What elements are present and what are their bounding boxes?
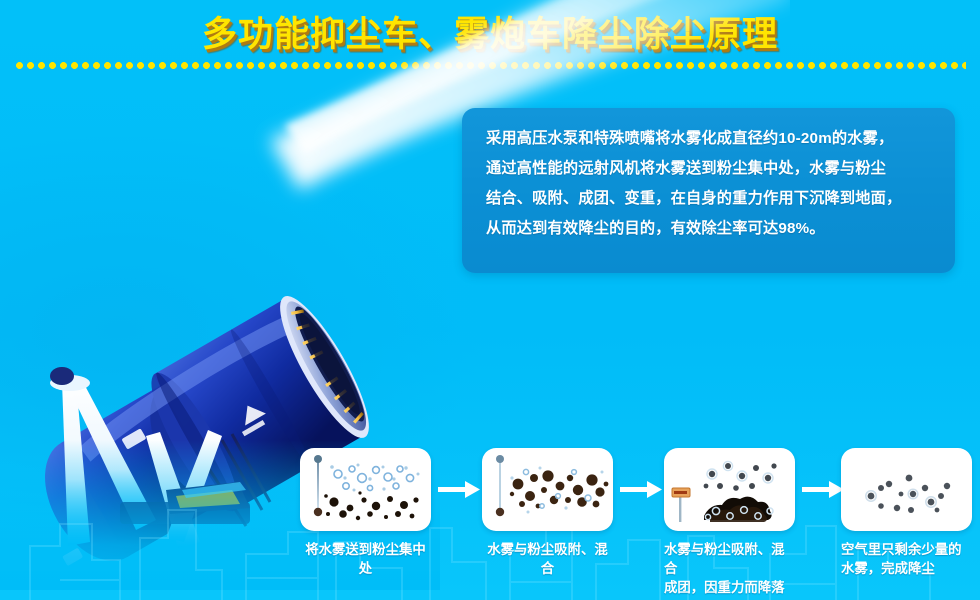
step-3-caption: 水雾与粉尘吸附、混合 成团，因重力而降落 bbox=[664, 540, 795, 597]
info-panel: 采用高压水泵和特殊喷嘴将水雾化成直径约10-20m的水雾， 通过高性能的远射风机… bbox=[462, 108, 955, 273]
mist-dust-mixing-icon bbox=[482, 448, 613, 531]
page-title: 多功能抑尘车、雾炮车降尘除尘原理 bbox=[0, 6, 980, 57]
step-4-diagram-card bbox=[841, 448, 972, 531]
poster-canvas: 多功能抑尘车、雾炮车降尘除尘原理 bbox=[0, 0, 980, 600]
dotted-divider bbox=[14, 62, 966, 69]
arrow-1-icon bbox=[438, 480, 480, 499]
dust-clumps-falling-icon bbox=[664, 448, 795, 531]
step-3-diagram-card bbox=[664, 448, 795, 531]
step-1-caption: 将水雾送到粉尘集中处 bbox=[300, 540, 431, 578]
arrow-3-icon bbox=[802, 480, 844, 499]
info-line-1: 采用高压水泵和特殊喷嘴将水雾化成直径约10-20m的水雾， bbox=[486, 124, 933, 154]
step-2-caption: 水雾与粉尘吸附、混合 bbox=[482, 540, 613, 578]
info-line-4: 从而达到有效降尘的目的，有效除尘率可达98%。 bbox=[486, 214, 933, 244]
mist-and-dust-separate-icon bbox=[300, 448, 431, 531]
process-flow: 将水雾送到粉尘集中处 bbox=[300, 448, 972, 593]
process-step-4: 空气里只剩余少量的 水雾，完成降尘 bbox=[841, 448, 972, 578]
step-1-diagram-card bbox=[300, 448, 431, 531]
info-line-2: 通过高性能的远射风机将水雾送到粉尘集中处，水雾与粉尘 bbox=[486, 154, 933, 184]
process-step-1: 将水雾送到粉尘集中处 bbox=[300, 448, 431, 578]
arrow-2-icon bbox=[620, 480, 662, 499]
process-step-2: 水雾与粉尘吸附、混合 bbox=[482, 448, 613, 578]
step-2-diagram-card bbox=[482, 448, 613, 531]
clean-air-residual-mist-icon bbox=[841, 448, 972, 531]
info-line-3: 结合、吸附、成团、变重，在自身的重力作用下沉降到地面， bbox=[486, 184, 933, 214]
process-step-3: 水雾与粉尘吸附、混合 成团，因重力而降落 bbox=[664, 448, 795, 597]
step-4-caption: 空气里只剩余少量的 水雾，完成降尘 bbox=[841, 540, 972, 578]
